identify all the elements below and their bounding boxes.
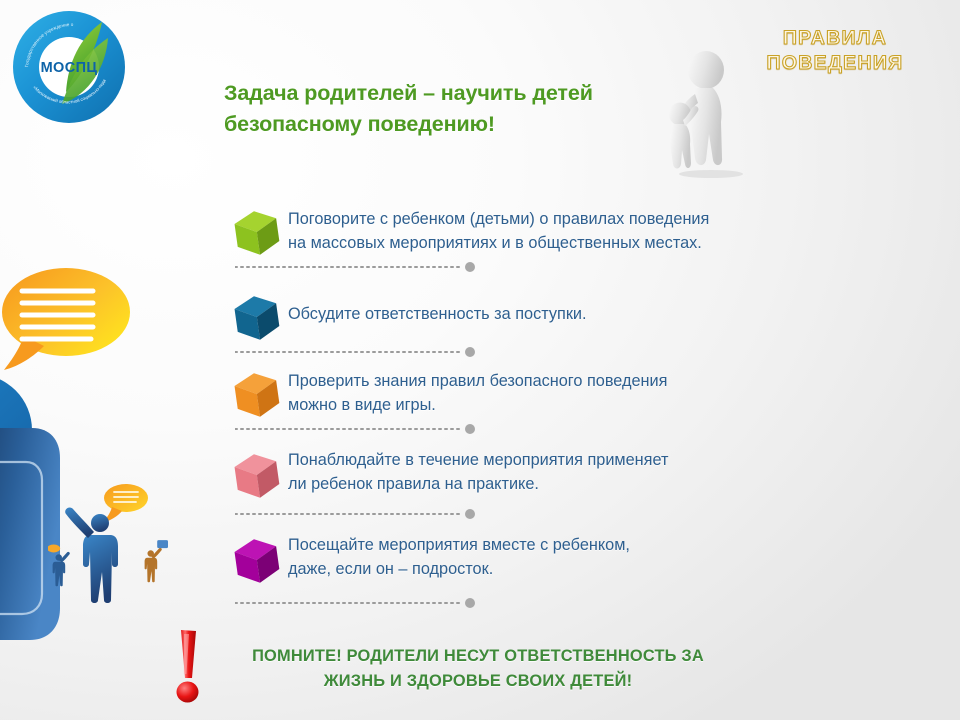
bullet-list: Поговорите с ребенком (детьми) о правила… (0, 0, 960, 720)
blue-person-raising-hand-icon (48, 480, 183, 610)
footer-warning-text: ПОМНИТЕ! РОДИТЕЛИ НЕСУТ ОТВЕТСТВЕННОСТЬ … (208, 644, 748, 693)
slide-canvas: Государственное учреждение образования «… (0, 0, 960, 720)
red-exclamation-icon (165, 628, 211, 704)
cube-bullet-icon (228, 290, 286, 346)
cube-bullet-icon (228, 367, 286, 423)
dotted-connector (235, 595, 475, 605)
bullet-text: Поговорите с ребенком (детьми) о правила… (288, 207, 828, 255)
dotted-connector (235, 506, 475, 516)
dotted-connector (235, 259, 475, 269)
orange-speech-bubble-icon (0, 262, 139, 382)
bullet-text: Обсудите ответственность за поступки. (288, 302, 828, 326)
bullet-text: Понаблюдайте в течение мероприятия приме… (288, 448, 828, 496)
footer-line-1: ПОМНИТЕ! РОДИТЕЛИ НЕСУТ ОТВЕТСТВЕННОСТЬ … (208, 644, 748, 669)
cube-bullet-icon (228, 448, 286, 504)
footer-line-2: ЖИЗНЬ И ЗДОРОВЬЕ СВОИХ ДЕТЕЙ! (208, 669, 748, 694)
dotted-connector (235, 421, 475, 431)
dotted-connector (235, 344, 475, 354)
bullet-text: Посещайте мероприятия вместе с ребенком,… (288, 533, 828, 581)
small-orange-speech-bubble-icon (102, 484, 148, 523)
cube-bullet-icon (228, 533, 286, 589)
cube-bullet-icon (228, 205, 286, 261)
bullet-text: Проверить знания правил безопасного пове… (288, 369, 828, 417)
